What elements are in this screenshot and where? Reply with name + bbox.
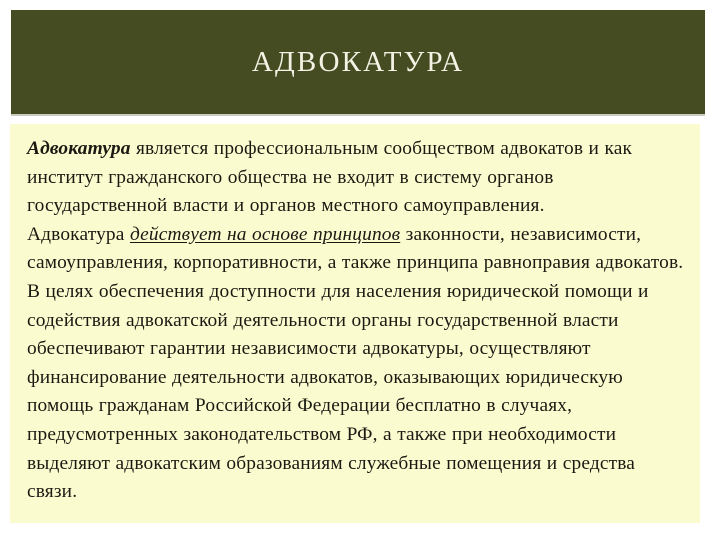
slide-root: АДВОКАТУРА Адвокатура является профессио… bbox=[0, 0, 717, 537]
paragraph-state-guarantees: В целях обеспечения доступности для насе… bbox=[27, 278, 688, 507]
paragraph-principles-prefix: Адвокатура bbox=[27, 224, 130, 245]
page-title: АДВОКАТУРА bbox=[252, 48, 464, 77]
body-content-panel: Адвокатура является профессиональным соо… bbox=[10, 124, 700, 523]
title-band: АДВОКАТУРА bbox=[11, 10, 705, 114]
lead-term: Адвокатура bbox=[27, 138, 131, 159]
paragraph-principles: Адвокатура действует на основе принципов… bbox=[27, 221, 688, 278]
paragraph-definition: Адвокатура является профессиональным соо… bbox=[27, 135, 688, 221]
emphasis-principles: действует на основе принципов bbox=[130, 224, 400, 245]
